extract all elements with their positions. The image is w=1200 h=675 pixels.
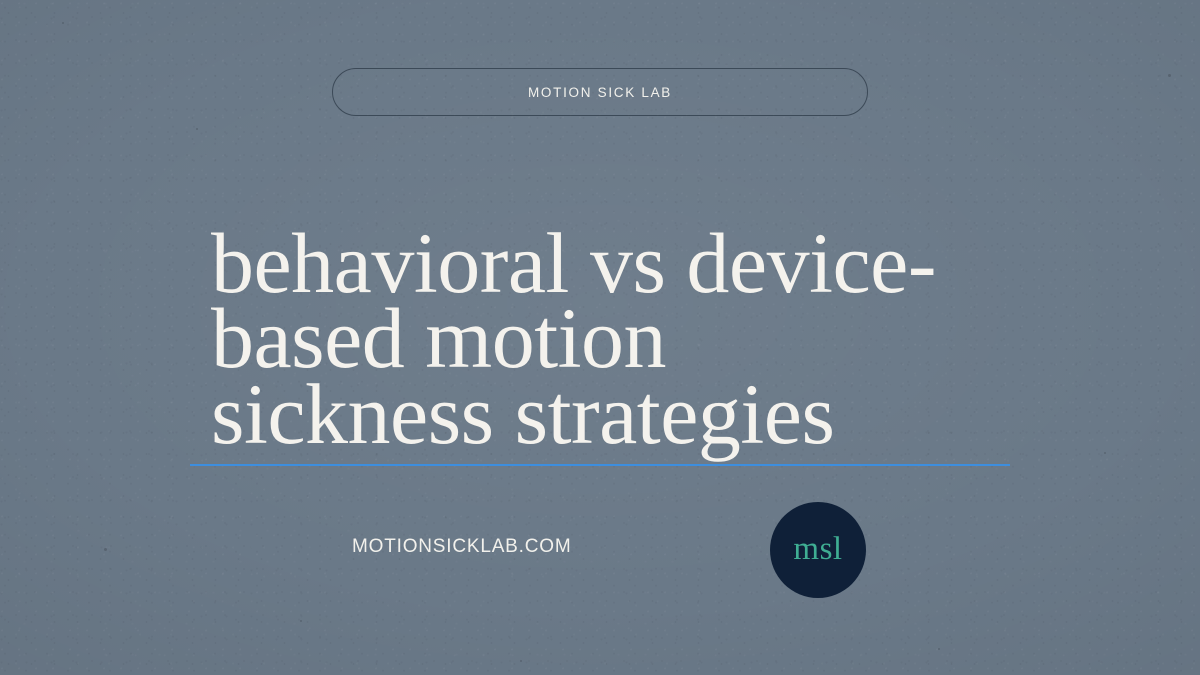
slide-canvas: MOTION SICK LAB behavioral vs device- ba… — [0, 0, 1200, 675]
texture-speck — [196, 128, 198, 130]
texture-speck — [104, 548, 107, 551]
eyebrow-label: MOTION SICK LAB — [528, 85, 672, 100]
page-title: behavioral vs device- based motion sickn… — [211, 226, 1041, 453]
texture-speck — [300, 620, 302, 622]
texture-speck — [520, 660, 522, 662]
brand-logo-badge: msl — [770, 502, 866, 598]
texture-speck — [62, 22, 64, 24]
title-line-3: sickness strategies — [211, 377, 1041, 453]
footer-website-url: MOTIONSICKLAB.COM — [352, 536, 571, 558]
texture-speck — [1104, 452, 1106, 454]
divider-rule — [190, 464, 1010, 466]
eyebrow-pill: MOTION SICK LAB — [332, 68, 868, 116]
texture-speck — [938, 648, 940, 650]
logo-monogram: msl — [793, 533, 842, 566]
texture-speck — [1168, 74, 1171, 77]
